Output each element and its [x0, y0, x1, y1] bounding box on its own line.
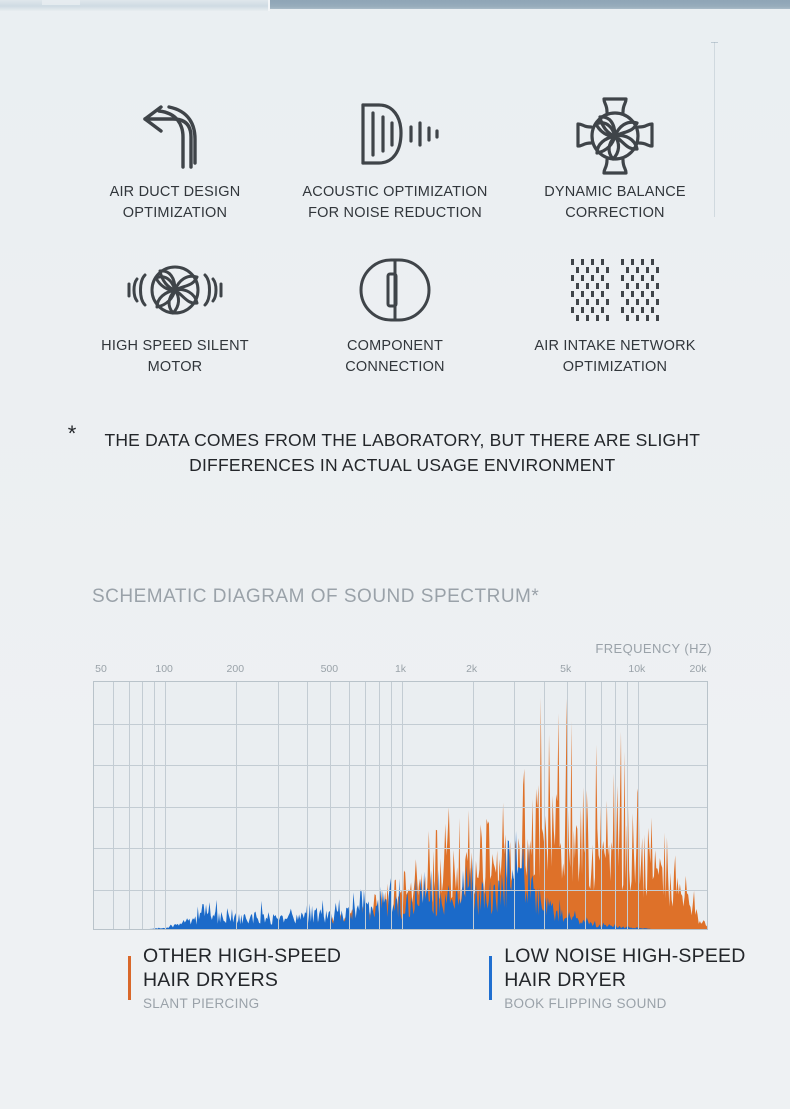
feature-label: HIGH SPEED SILENT MOTOR — [101, 336, 249, 378]
legend-title: LOW NOISE HIGH-SPEED HAIR DRYER — [504, 944, 745, 992]
x-tick-label: 2k — [466, 663, 477, 675]
grid-line-vertical — [627, 682, 628, 929]
x-axis-tick-labels: 501002005001k2k5k10k20k — [93, 663, 708, 679]
feature-label: AIR INTAKE NETWORK OPTIMIZATION — [534, 336, 695, 378]
legend-color-swatch — [128, 956, 131, 1000]
feature-row-1: AIR DUCT DESIGN OPTIMIZATION ACOUSTIC OP… — [65, 96, 725, 224]
silent-motor-fan-icon — [123, 250, 227, 330]
grid-line-vertical — [638, 682, 639, 929]
page-hairline-tick — [711, 42, 718, 43]
feature-grid: AIR DUCT DESIGN OPTIMIZATION ACOUSTIC OP… — [0, 96, 790, 378]
sound-spectrum-chart: 501002005001k2k5k10k20k — [93, 663, 708, 930]
top-bar-right-segment — [270, 0, 790, 9]
grid-line-vertical — [129, 682, 130, 929]
top-bar-left-segment — [0, 0, 270, 11]
grid-line-vertical — [601, 682, 602, 929]
feature-dynamic-balance: DYNAMIC BALANCE CORRECTION — [505, 96, 725, 224]
air-intake-mesh-icon — [569, 250, 661, 330]
chart-title: SCHEMATIC DIAGRAM OF SOUND SPECTRUM* — [92, 586, 539, 608]
x-tick-label: 50 — [95, 663, 107, 675]
grid-line-vertical — [278, 682, 279, 929]
feature-label: AIR DUCT DESIGN OPTIMIZATION — [110, 182, 241, 224]
component-connection-icon — [355, 250, 435, 330]
acoustic-wave-icon — [349, 96, 441, 176]
top-bar — [0, 0, 790, 11]
x-tick-label: 1k — [395, 663, 406, 675]
feature-acoustic-optimization: ACOUSTIC OPTIMIZATION FOR NOISE REDUCTIO… — [285, 96, 505, 224]
note-text: THE DATA COMES FROM THE LABORATORY, BUT … — [82, 428, 722, 478]
feature-high-speed-silent-motor: HIGH SPEED SILENT MOTOR — [65, 250, 285, 378]
grid-line-vertical — [585, 682, 586, 929]
feature-label: ACOUSTIC OPTIMIZATION FOR NOISE REDUCTIO… — [302, 182, 487, 224]
grid-line-vertical — [165, 682, 166, 929]
feature-row-2: HIGH SPEED SILENT MOTOR COMPONENT CONNEC… — [65, 250, 725, 378]
grid-line-vertical — [236, 682, 237, 929]
grid-line-vertical — [379, 682, 380, 929]
legend-color-swatch — [489, 956, 492, 1000]
asterisk-marker: * — [68, 428, 77, 440]
grid-line-vertical — [514, 682, 515, 929]
grid-line-vertical — [307, 682, 308, 929]
x-tick-label: 500 — [321, 663, 339, 675]
feature-component-connection: COMPONENT CONNECTION — [285, 250, 505, 378]
x-tick-label: 200 — [227, 663, 245, 675]
grid-line-vertical — [615, 682, 616, 929]
grid-line-vertical — [113, 682, 114, 929]
laboratory-note: *THE DATA COMES FROM THE LABORATORY, BUT… — [0, 428, 790, 478]
legend-subtitle: BOOK FLIPPING SOUND — [504, 996, 745, 1011]
legend-item-other-dryers: OTHER HIGH-SPEED HAIR DRYERS SLANT PIERC… — [128, 944, 341, 1011]
feature-air-intake-network: AIR INTAKE NETWORK OPTIMIZATION — [505, 250, 725, 378]
grid-line-vertical — [391, 682, 392, 929]
grid-line-vertical — [330, 682, 331, 929]
legend-item-low-noise-dryer: LOW NOISE HIGH-SPEED HAIR DRYER BOOK FLI… — [489, 944, 745, 1011]
top-bar-chip — [42, 0, 80, 5]
grid-line-vertical — [402, 682, 403, 929]
feature-air-duct-design: AIR DUCT DESIGN OPTIMIZATION — [65, 96, 285, 224]
x-tick-label: 20k — [690, 663, 707, 675]
legend-subtitle: SLANT PIERCING — [143, 996, 341, 1011]
chart-plot-area — [93, 681, 708, 930]
grid-line-vertical — [154, 682, 155, 929]
grid-line-vertical — [567, 682, 568, 929]
grid-line-vertical — [544, 682, 545, 929]
feature-label: DYNAMIC BALANCE CORRECTION — [544, 182, 686, 224]
grid-line-vertical — [349, 682, 350, 929]
feature-label: COMPONENT CONNECTION — [345, 336, 444, 378]
frequency-axis-caption: FREQUENCY (HZ) — [595, 641, 712, 656]
x-tick-label: 5k — [560, 663, 571, 675]
grid-line-vertical — [365, 682, 366, 929]
grid-line-vertical — [473, 682, 474, 929]
chart-legend: OTHER HIGH-SPEED HAIR DRYERS SLANT PIERC… — [128, 944, 748, 1011]
legend-title: OTHER HIGH-SPEED HAIR DRYERS — [143, 944, 341, 992]
x-tick-label: 10k — [628, 663, 645, 675]
air-duct-icon — [133, 96, 217, 176]
dynamic-balance-fan-icon — [572, 96, 658, 176]
grid-line-vertical — [142, 682, 143, 929]
x-tick-label: 100 — [155, 663, 173, 675]
